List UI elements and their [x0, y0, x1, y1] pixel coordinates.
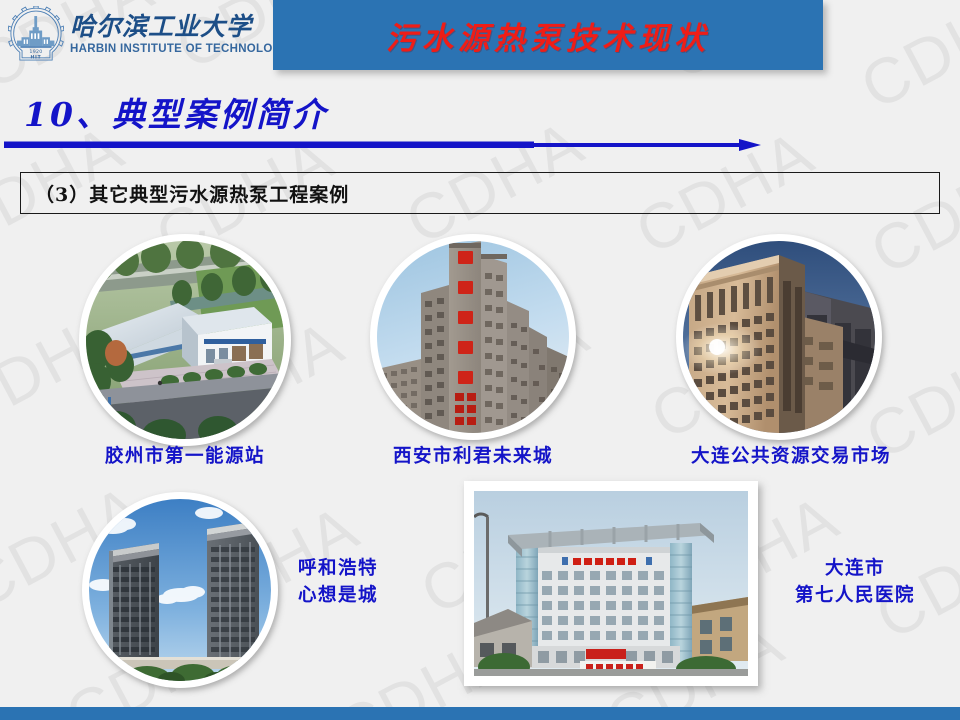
- photo-xian-lijun-future-city: [377, 241, 569, 433]
- figure-dalian-seventh-peoples-hospital[interactable]: [464, 481, 758, 686]
- figure-jiaozhou-energy-station[interactable]: [79, 234, 291, 446]
- caption-dalian-public-resource-trading-market: 大连公共资源交易市场: [646, 444, 936, 471]
- page-title: 10、典型案例简介: [24, 88, 328, 136]
- caption-xian-lijun-future-city: 西安市利君未来城: [337, 444, 609, 471]
- topic-banner: 污水源热泵技术现状: [273, 0, 823, 70]
- caption-dalian-seventh-peoples-hospital: 大连市 第七人民医院: [760, 556, 950, 610]
- figure-dalian-public-resource-trading-market[interactable]: [676, 234, 882, 440]
- figure-xian-lijun-future-city[interactable]: [370, 234, 576, 440]
- caption-hohhot-xinxiangshi-city: 呼和浩特 心想是城: [298, 556, 468, 610]
- photo-dalian-seventh-peoples-hospital: [474, 491, 748, 676]
- svg-text:1920: 1920: [29, 49, 42, 55]
- university-logo: 1920 HIT 哈尔滨工业大学 HARBIN INSTITUTE OF TEC…: [8, 6, 290, 64]
- photo-dalian-public-resource-trading-market: [683, 241, 875, 433]
- presentation-slide: CDHA CDHA CDHA CDHA CDHA CDHA CDHA CDHA …: [0, 0, 960, 720]
- subsection-label: （3）其它典型污水源热泵工程案例: [21, 180, 349, 207]
- title-underline-arrow-icon: [4, 136, 774, 154]
- logo-text-block: 哈尔滨工业大学 HARBIN INSTITUTE OF TECHNOLOGY: [70, 14, 290, 56]
- subsection-box: （3）其它典型污水源热泵工程案例: [20, 172, 940, 214]
- university-name-cn: 哈尔滨工业大学: [70, 14, 290, 39]
- caption-jiaozhou-energy-station: 胶州市第一能源站: [49, 444, 321, 471]
- hit-crest-icon: 1920 HIT: [8, 6, 64, 64]
- photo-hohhot-xinxiangshi-city: [89, 499, 271, 681]
- figure-hohhot-xinxiangshi-city[interactable]: [82, 492, 278, 688]
- university-name-en: HARBIN INSTITUTE OF TECHNOLOGY: [70, 44, 290, 56]
- photo-jiaozhou-energy-station: [86, 241, 284, 439]
- slide-header: 1920 HIT 哈尔滨工业大学 HARBIN INSTITUTE OF TEC…: [0, 0, 960, 78]
- svg-text:HIT: HIT: [31, 54, 42, 60]
- footer-bar: [0, 707, 960, 720]
- topic-banner-title: 污水源热泵技术现状: [386, 13, 710, 58]
